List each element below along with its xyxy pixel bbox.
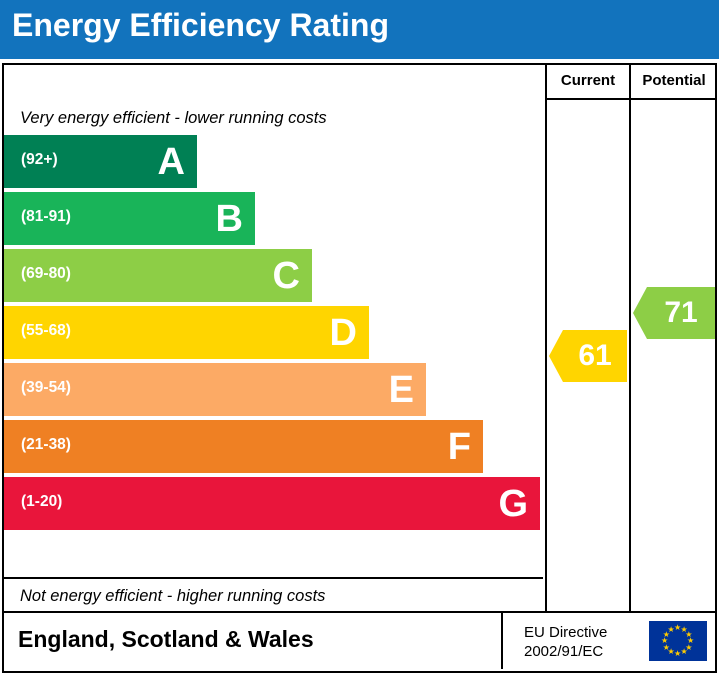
band-f: (21-38)F xyxy=(4,420,483,473)
band-letter-g: G xyxy=(498,479,528,529)
eu-flag-icon: ★★★★★★★★★★★★ xyxy=(649,621,707,661)
band-letter-b: B xyxy=(216,194,243,244)
band-d: (55-68)D xyxy=(4,306,369,359)
column-header-current: Current xyxy=(547,72,629,89)
marker-arrow-icon-current xyxy=(549,330,563,382)
band-range-b: (81-91) xyxy=(21,208,71,226)
band-a: (92+)A xyxy=(4,135,197,188)
footer-directive: EU Directive 2002/91/EC xyxy=(524,623,607,661)
epc-certificate: Energy Efficiency Rating Current Potenti… xyxy=(0,0,719,675)
eu-star-icon: ★ xyxy=(681,648,688,656)
footer-directive-line2: 2002/91/EC xyxy=(524,642,607,661)
eu-star-icon: ★ xyxy=(668,626,675,634)
marker-arrow-icon-potential xyxy=(633,287,647,339)
band-letter-d: D xyxy=(330,308,357,358)
footer-directive-line1: EU Directive xyxy=(524,623,607,642)
band-range-a: (92+) xyxy=(21,151,58,169)
column-header-rule xyxy=(545,98,717,100)
band-range-c: (69-80) xyxy=(21,265,71,283)
rating-chart: Current Potential Very energy efficient … xyxy=(2,63,717,613)
band-letter-a: A xyxy=(158,137,185,187)
band-b: (81-91)B xyxy=(4,192,255,245)
band-e: (39-54)E xyxy=(4,363,426,416)
eu-star-icon: ★ xyxy=(674,650,681,658)
column-header-potential: Potential xyxy=(631,72,717,89)
marker-value-current: 61 xyxy=(563,330,627,382)
band-c: (69-80)C xyxy=(4,249,312,302)
band-range-e: (39-54) xyxy=(21,379,71,397)
band-letter-c: C xyxy=(273,251,300,301)
band-g: (1-20)G xyxy=(4,477,540,530)
column-divider-potential xyxy=(629,65,631,611)
band-range-d: (55-68) xyxy=(21,322,71,340)
rating-marker-potential: 71 xyxy=(633,287,715,339)
chart-title-bar: Energy Efficiency Rating xyxy=(0,0,719,59)
footer-divider xyxy=(501,613,503,669)
band-letter-f: F xyxy=(448,422,471,472)
marker-value-potential: 71 xyxy=(647,287,715,339)
chart-footer: England, Scotland & Wales EU Directive 2… xyxy=(2,613,717,673)
footer-region-label: England, Scotland & Wales xyxy=(18,626,314,653)
band-letter-e: E xyxy=(389,365,414,415)
rating-marker-current: 61 xyxy=(549,330,627,382)
band-list: (92+)A(81-91)B(69-80)C(55-68)D(39-54)E(2… xyxy=(4,65,543,611)
band-range-f: (21-38) xyxy=(21,436,71,454)
column-divider-current xyxy=(545,65,547,611)
band-range-g: (1-20) xyxy=(21,493,62,511)
page-title: Energy Efficiency Rating xyxy=(12,7,389,44)
